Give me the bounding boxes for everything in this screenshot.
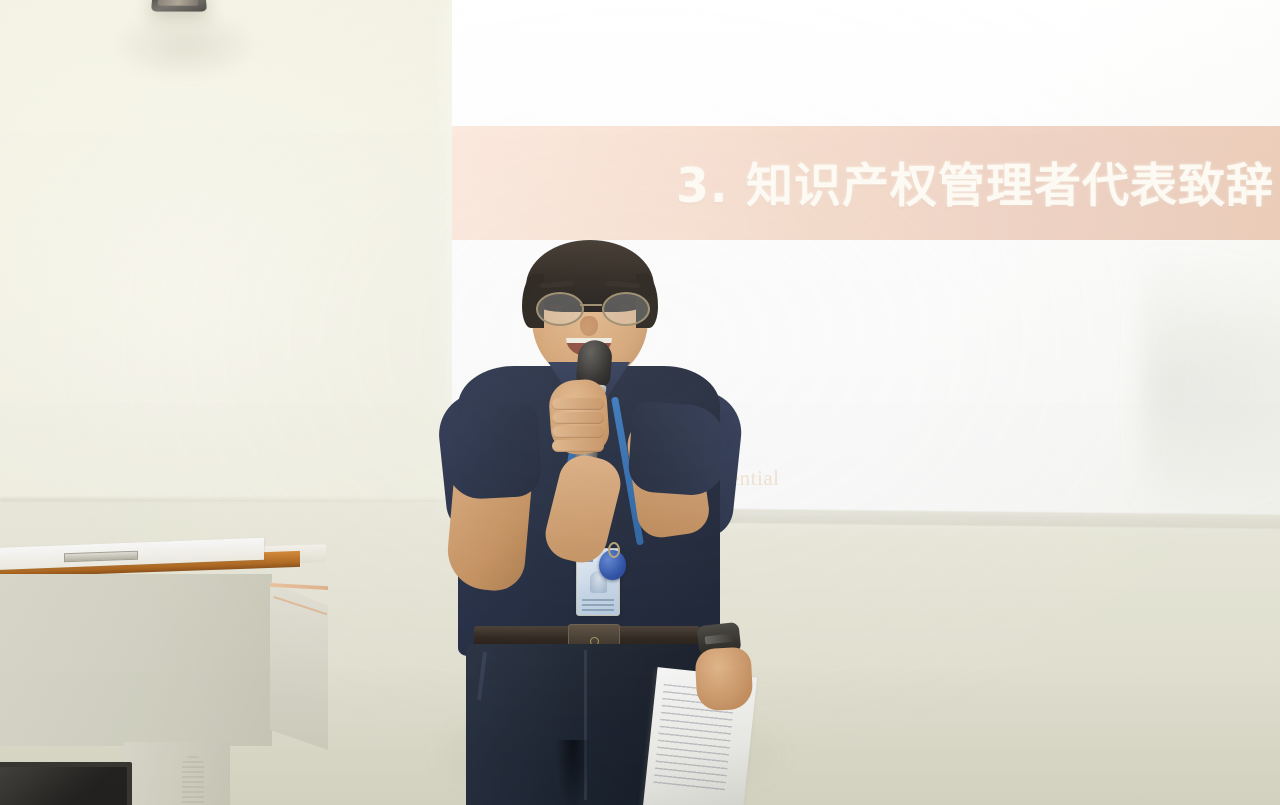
ceiling-fixture-shadow <box>110 10 260 80</box>
sleeve-left <box>444 404 543 501</box>
slide-title-text: 3. 知识产权管理者代表致辞 <box>676 147 1274 216</box>
finger <box>552 412 604 424</box>
finger <box>552 426 604 438</box>
lectern-monitor <box>0 762 132 805</box>
badge-text-line <box>582 599 614 601</box>
access-key-fob <box>599 550 626 580</box>
speaker-shadow-on-screen <box>1142 248 1280 518</box>
lectern-body <box>0 574 272 746</box>
lectern-monitor-screen <box>0 767 127 805</box>
ceiling-fixture-icon <box>151 0 207 12</box>
lectern-vent <box>182 756 204 805</box>
trouser-inseam-shadow <box>556 740 590 805</box>
lectern <box>0 524 334 805</box>
glasses-lens-left <box>536 292 584 326</box>
photo-scene: 3. 知识产权管理者代表致辞 fidential <box>0 0 1280 805</box>
sleeve-right <box>627 401 729 497</box>
lectern-base <box>124 742 230 805</box>
glasses-lens-right <box>602 292 650 326</box>
badge-text-line <box>582 609 614 611</box>
hand-holding-papers <box>694 647 753 712</box>
finger <box>552 398 604 410</box>
finger <box>552 440 604 452</box>
nose <box>580 316 598 336</box>
badge-text-line <box>582 604 614 606</box>
speaker-figure: DELTON DELTON TECH <box>380 220 800 805</box>
glasses-bridge <box>580 304 602 306</box>
